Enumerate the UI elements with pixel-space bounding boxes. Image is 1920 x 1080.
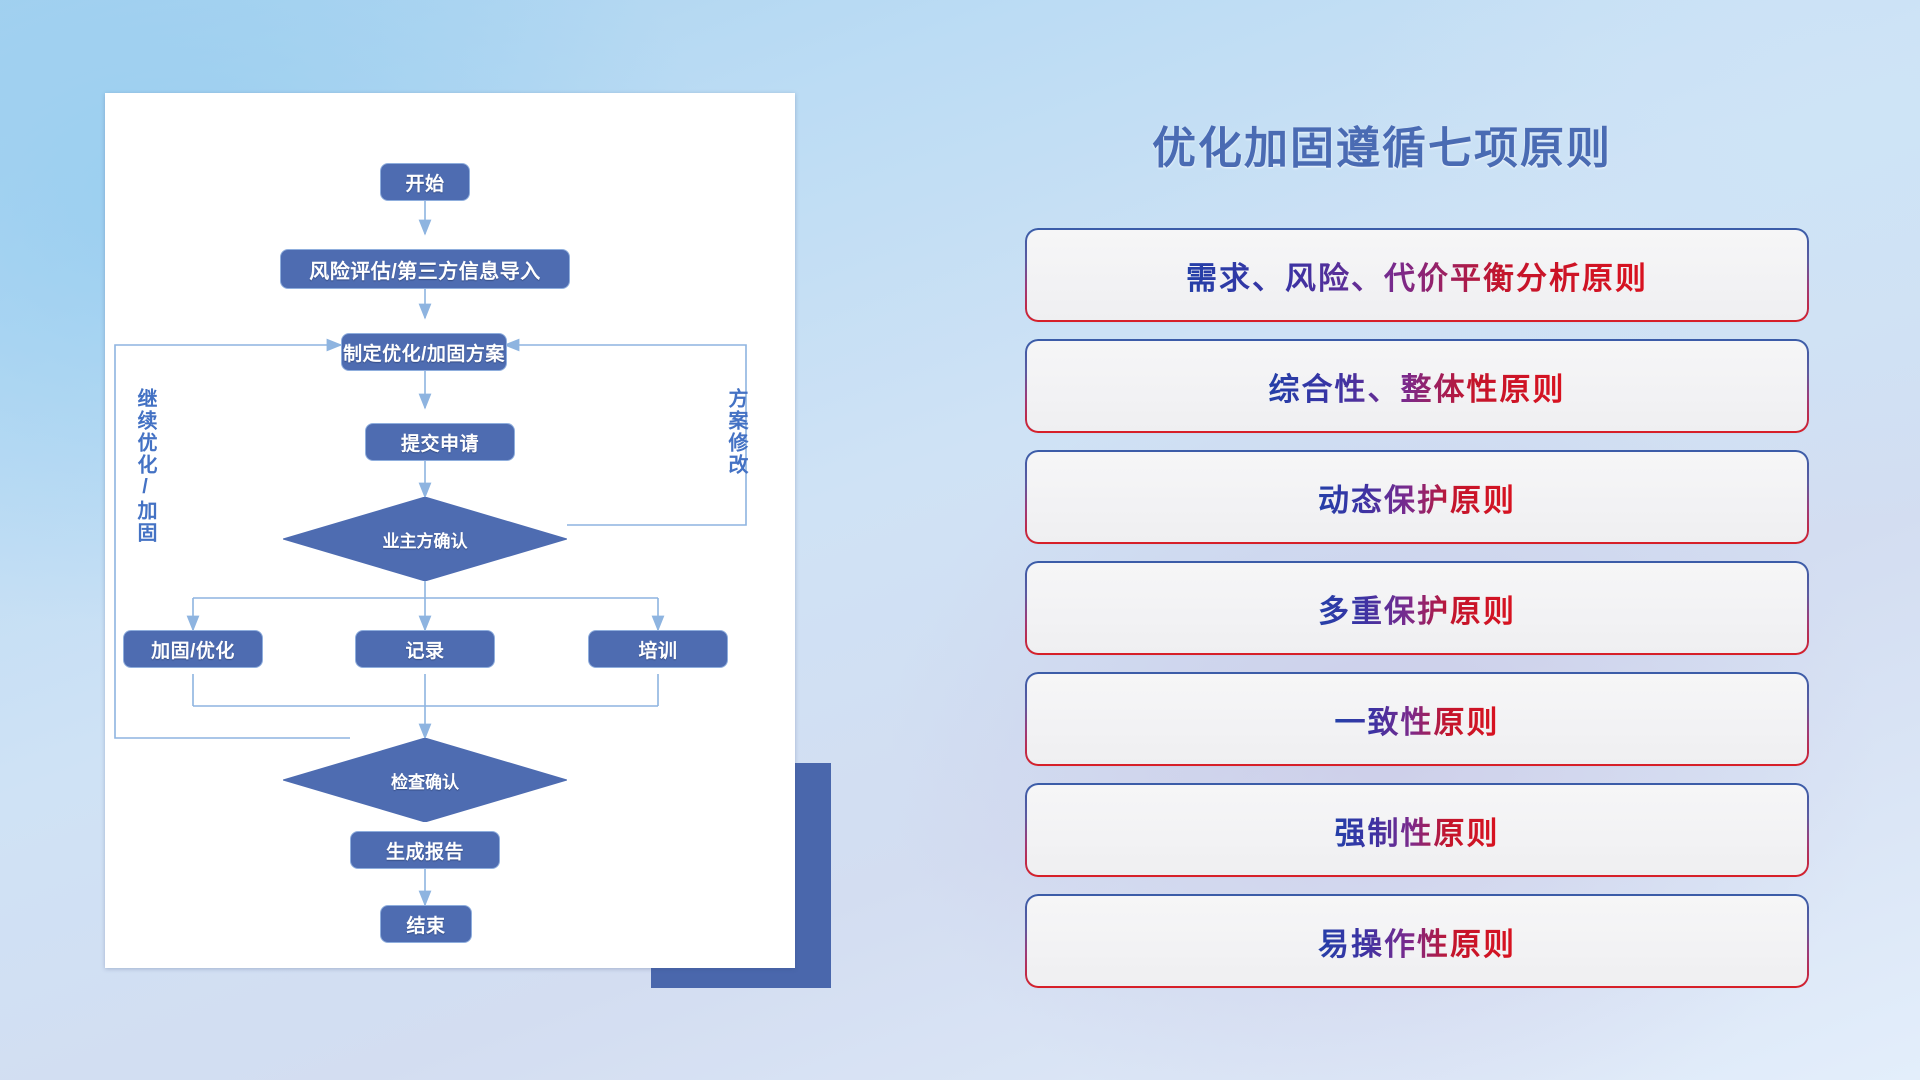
principle-card[interactable]: 易操作性原则 — [1027, 896, 1807, 986]
flowchart: 开始 风险评估/第三方信息导入 制定优化/加固方案 提交申请 业主方确认 加固/… — [105, 93, 795, 968]
flow-node-record[interactable]: 记录 — [355, 630, 495, 668]
principle-label: 综合性、整体性原则 — [1269, 364, 1566, 409]
flow-decision-owner-confirm[interactable]: 业主方确认 — [283, 497, 567, 581]
principle-card[interactable]: 综合性、整体性原则 — [1027, 341, 1807, 431]
principle-card[interactable]: 动态保护原则 — [1027, 452, 1807, 542]
flow-node-training[interactable]: 培训 — [588, 630, 728, 668]
flow-node-start[interactable]: 开始 — [380, 163, 470, 201]
principle-label: 强制性原则 — [1335, 808, 1500, 853]
principles-section: 优化加固遵循七项原则 需求、风险、代价平衡分析原则 综合性、整体性原则 动态保护… — [1027, 0, 1807, 1080]
flow-node-submit[interactable]: 提交申请 — [365, 423, 515, 461]
principle-label: 多重保护原则 — [1318, 586, 1516, 631]
flow-node-report[interactable]: 生成报告 — [350, 831, 500, 869]
page-title: 优化加固遵循七项原则 — [1152, 112, 1612, 176]
flow-decision-inspect-confirm[interactable]: 检查确认 — [283, 738, 567, 822]
principle-label: 需求、风险、代价平衡分析原则 — [1186, 253, 1648, 298]
diamond-shape — [283, 738, 567, 822]
principle-card[interactable]: 一致性原则 — [1027, 674, 1807, 764]
principle-card-list: 需求、风险、代价平衡分析原则 综合性、整体性原则 动态保护原则 多重保护原则 一… — [1027, 230, 1807, 1007]
flow-edge-label-right-loop: 方案修改 — [725, 388, 746, 476]
principle-card[interactable]: 多重保护原则 — [1027, 563, 1807, 653]
flowchart-panel: 开始 风险评估/第三方信息导入 制定优化/加固方案 提交申请 业主方确认 加固/… — [105, 93, 795, 968]
principle-label: 易操作性原则 — [1318, 919, 1516, 964]
flow-node-end[interactable]: 结束 — [380, 905, 472, 943]
flow-node-plan[interactable]: 制定优化/加固方案 — [341, 333, 507, 371]
flow-node-risk-assessment[interactable]: 风险评估/第三方信息导入 — [280, 249, 570, 289]
flow-edge-label-left-loop: 继续优化/加固 — [134, 388, 155, 544]
principle-card[interactable]: 强制性原则 — [1027, 785, 1807, 875]
flow-node-reinforce[interactable]: 加固/优化 — [123, 630, 263, 668]
principle-label: 一致性原则 — [1335, 697, 1500, 742]
principle-card[interactable]: 需求、风险、代价平衡分析原则 — [1027, 230, 1807, 320]
diamond-shape — [283, 497, 567, 581]
principle-label: 动态保护原则 — [1318, 475, 1516, 520]
